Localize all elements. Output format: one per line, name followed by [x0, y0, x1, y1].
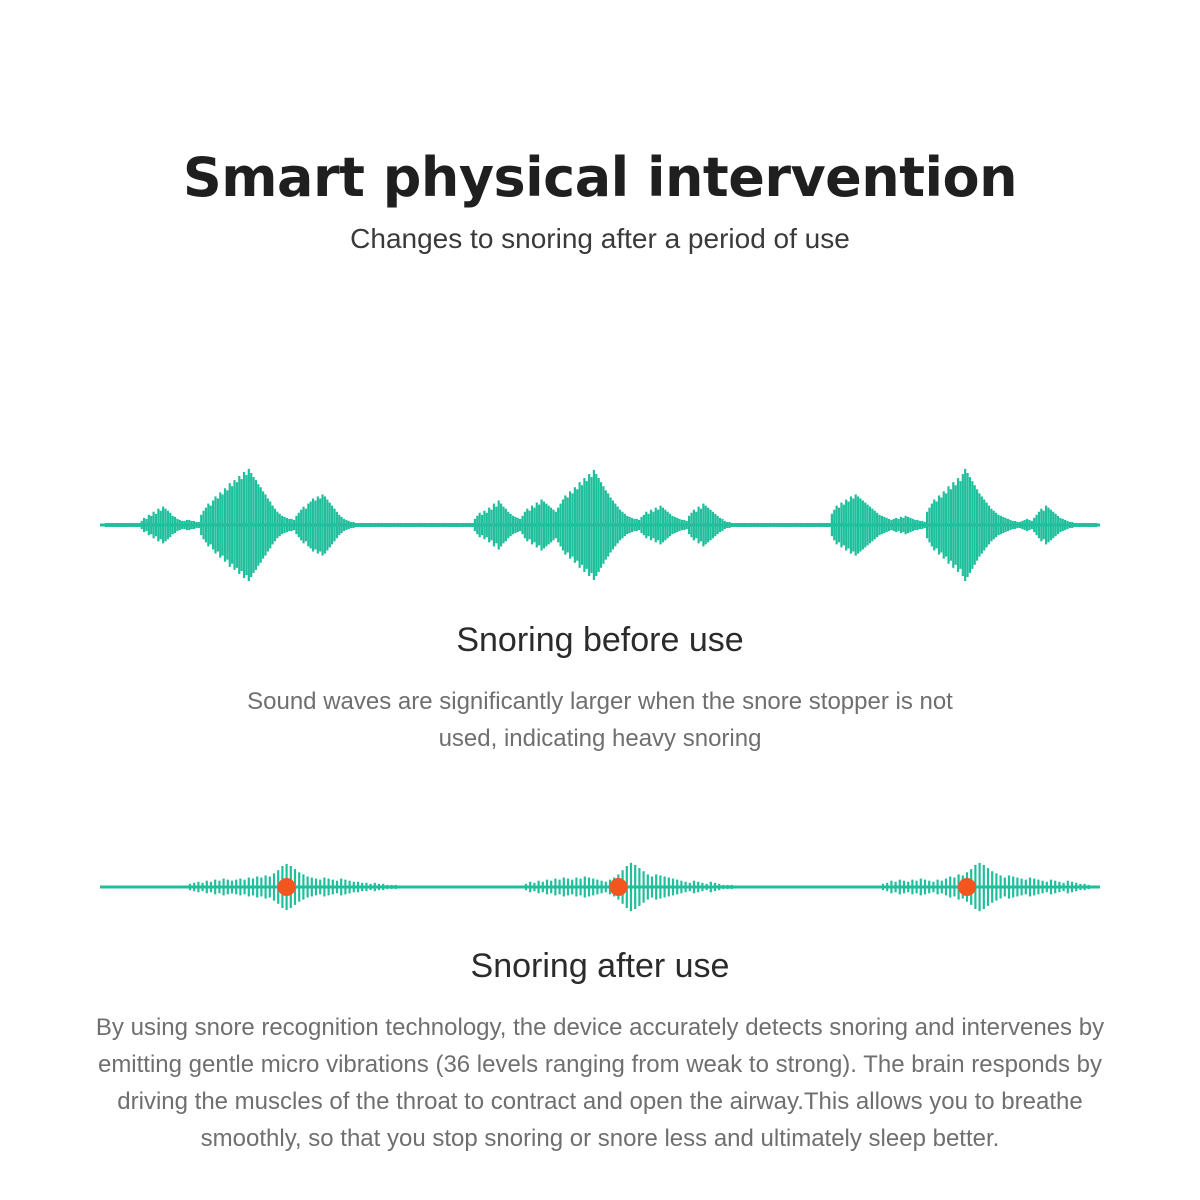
vibration-marker-icon	[609, 878, 627, 896]
waveform-before-use-container	[0, 440, 1200, 610]
waveform-before-use-chart	[100, 440, 1100, 610]
snoring-after-use-body: By using snore recognition technology, t…	[65, 1009, 1135, 1158]
vibration-marker-icon	[278, 878, 296, 896]
waveform-bars	[105, 863, 1098, 911]
snoring-before-use-body: Sound waves are significantly larger whe…	[220, 683, 980, 757]
header: Smart physical intervention Changes to s…	[0, 148, 1200, 256]
page-subtitle: Changes to snoring after a period of use	[0, 222, 1200, 256]
page-title: Smart physical intervention	[0, 148, 1200, 208]
snoring-before-use-caption: Snoring before use Sound waves are signi…	[0, 620, 1200, 757]
waveform-after-use-chart	[100, 845, 1100, 929]
page-root: Smart physical intervention Changes to s…	[0, 0, 1200, 1200]
snoring-after-use-heading: Snoring after use	[0, 946, 1200, 987]
snoring-after-use-caption: Snoring after use By using snore recogni…	[0, 946, 1200, 1158]
snoring-before-use-heading: Snoring before use	[0, 620, 1200, 661]
waveform-bars	[105, 469, 1097, 581]
waveform-after-use-container	[0, 845, 1200, 929]
vibration-marker-icon	[958, 878, 976, 896]
